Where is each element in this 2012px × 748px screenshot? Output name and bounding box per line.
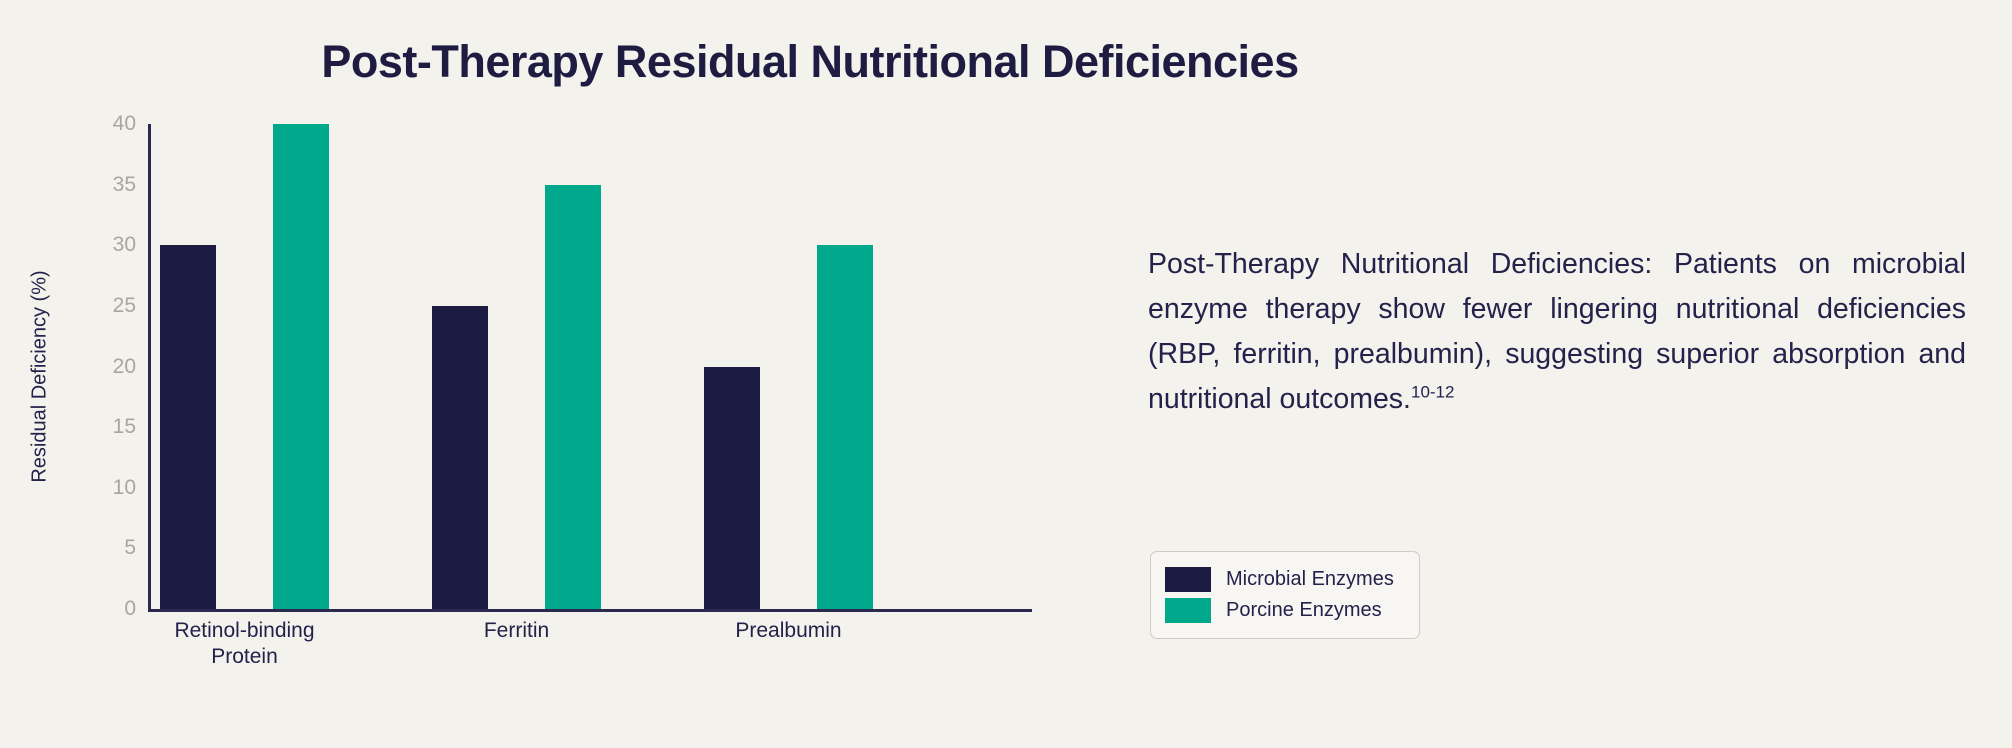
bar-porcine[interactable] [545,185,601,609]
annotation-text: Post-Therapy Nutritional Deficiencies: P… [1148,242,1966,422]
x-axis-category-label-line: Retinol-binding [100,618,389,644]
legend-item[interactable]: Porcine Enzymes [1165,595,1405,626]
chart-legend: Microbial EnzymesPorcine Enzymes [1150,551,1420,639]
legend-color-swatch [1165,567,1211,592]
bar-chart-figure: Residual Deficiency (%) 0510152025303540… [0,110,1100,720]
bar-group [704,124,873,609]
y-axis-tick-label: 30 [16,233,136,257]
bar-porcine[interactable] [817,245,873,609]
legend-item-label: Porcine Enzymes [1226,599,1382,622]
x-axis-category-label-line: Ferritin [372,618,661,644]
legend-color-swatch [1165,598,1211,623]
x-axis-category-label: Ferritin [372,618,661,644]
x-axis-category-label-line: Protein [100,644,389,670]
y-axis-tick-label: 35 [16,173,136,197]
bar-microbial[interactable] [432,306,488,609]
legend-item[interactable]: Microbial Enzymes [1165,564,1405,595]
chart-page: Post-Therapy Residual Nutritional Defici… [0,0,2012,748]
x-axis-line [148,609,1032,612]
y-axis-tick-label: 25 [16,294,136,318]
citation-reference: 10-12 [1411,383,1454,402]
y-axis-tick-label: 40 [16,112,136,136]
plot-area [148,124,1030,609]
y-axis-tick-labels: 0510152025303540 [0,124,136,609]
right-panel: Post-Therapy Nutritional Deficiencies: P… [1148,0,1978,748]
x-axis-category-label-line: Prealbumin [644,618,933,644]
bar-group [160,124,329,609]
bar-group [432,124,601,609]
y-axis-tick-label: 20 [16,355,136,379]
x-axis-category-label: Retinol-bindingProtein [100,618,389,670]
bar-microbial[interactable] [704,367,760,610]
y-axis-tick-label: 10 [16,476,136,500]
y-axis-tick-label: 5 [16,536,136,560]
legend-item-label: Microbial Enzymes [1226,568,1394,591]
bar-porcine[interactable] [273,124,329,609]
x-axis-category-label: Prealbumin [644,618,933,644]
bar-microbial[interactable] [160,245,216,609]
y-axis-tick-label: 15 [16,415,136,439]
